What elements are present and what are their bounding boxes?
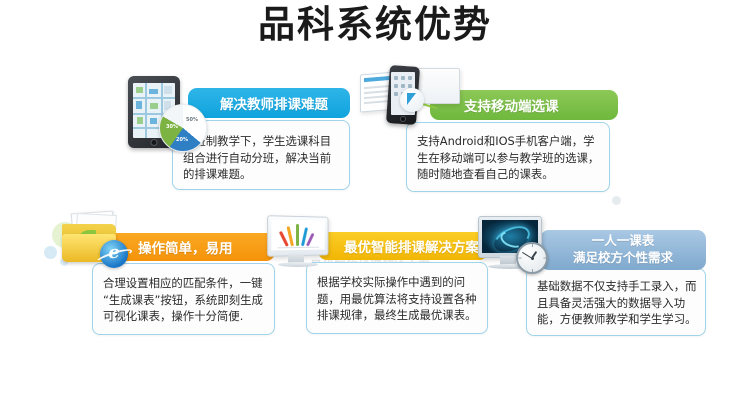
- page-title: 品科系统优势: [0, 2, 750, 48]
- card-1-header: 解决教师排课难题: [188, 88, 350, 118]
- clock-icon: [516, 242, 548, 274]
- decor-blob-blue: [44, 246, 57, 259]
- card-2-body: 支持Android和IOS手机客户端，学生在移动端可以参与教学班的选课，随时随地…: [406, 122, 610, 192]
- card-5-header: 一人一课表 满足校方个性需求: [540, 230, 706, 270]
- pie-label-3: 20%: [176, 137, 188, 143]
- folder-browser-icon: 品科 Acader e: [58, 212, 124, 272]
- card-3-body: 合理设置相应的匹配条件，一键“生成课表”按钮，系统即刻生成可视化课表，操作十分简…: [92, 263, 275, 335]
- card-5-heading-line1: 一人一课表: [540, 233, 706, 250]
- cursor-pointer-icon: [400, 88, 424, 112]
- card-1-heading: 解决教师排课难题: [220, 93, 350, 113]
- card-4-heading: 最优智能排课解决方案: [344, 236, 488, 256]
- card-3-header: 操作简单，易用: [108, 233, 275, 261]
- card-5-body: 基础数据不仅支持手工录入，而且具备灵活强大的数据导入功能，方便教师教学和学生学习…: [526, 268, 706, 336]
- card-2-heading: 支持移动端选课: [464, 95, 618, 115]
- card-3-heading: 操作简单，易用: [138, 237, 275, 257]
- card-4-header: 最优智能排课解决方案: [318, 232, 488, 260]
- desktop-monitor-icon: [268, 216, 332, 272]
- pie-label-1: 50%: [186, 117, 198, 123]
- card-4-body: 根据学校实际操作中遇到的问题，用最优算法将支持设置各种排课规律，最终生成最优课表…: [306, 262, 488, 334]
- card-5-heading-line2: 满足校方个性需求: [540, 250, 706, 267]
- pie-label-2: 30%: [166, 124, 178, 130]
- monitor-clock-icon: [478, 216, 548, 274]
- decor-blob-gray: [612, 196, 621, 205]
- internet-explorer-icon: e: [100, 240, 128, 268]
- pie-chart-icon: 50% 30% 20%: [159, 104, 207, 152]
- smartphone-icon: [388, 66, 418, 124]
